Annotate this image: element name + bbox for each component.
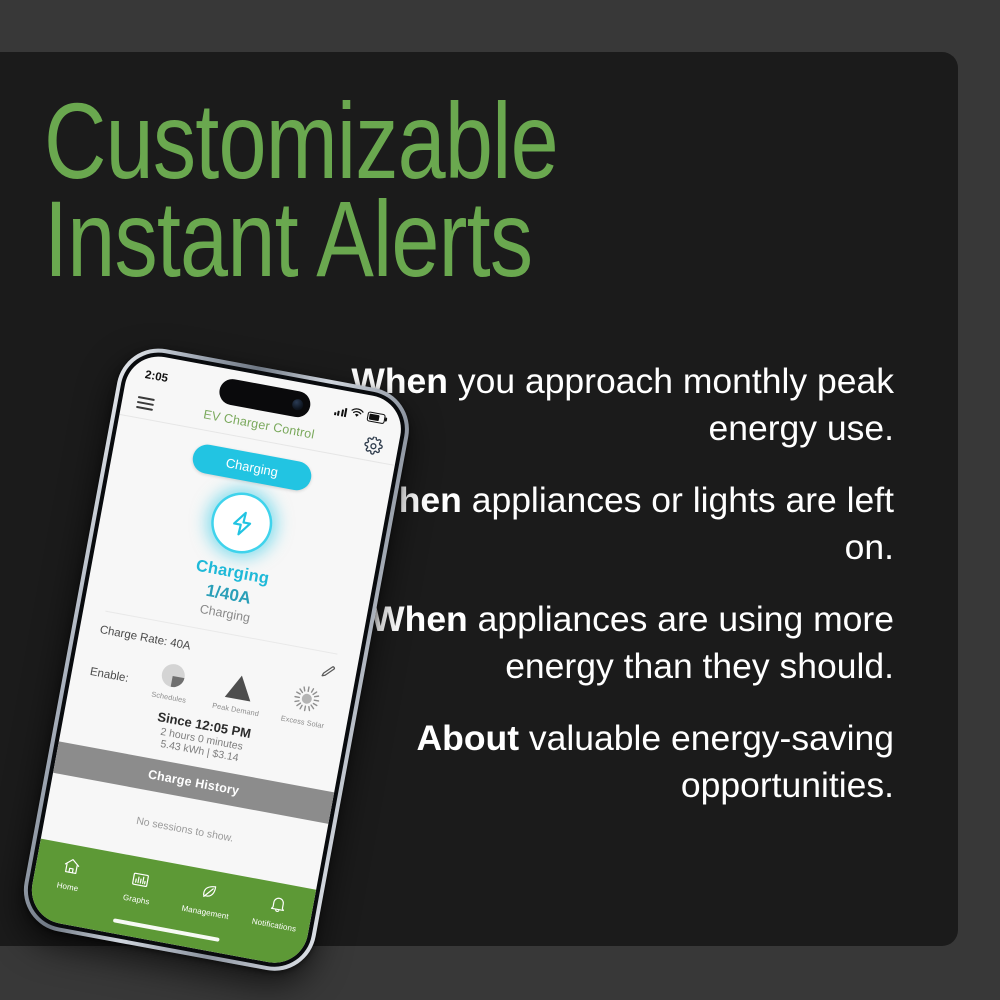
promo-slide: Customizable Instant Alerts When you app…	[0, 0, 1000, 1000]
toggle-label: Peak Demand	[212, 701, 260, 718]
status-badge[interactable]: Charging	[190, 442, 314, 493]
leaf-icon	[176, 875, 243, 908]
feature-copy-item: About valuable energy-saving opportuniti…	[349, 715, 894, 809]
nav-label: Notifications	[251, 917, 297, 934]
feature-copy-item: When appliances are using more energy th…	[349, 596, 894, 690]
front-camera-icon	[291, 398, 304, 411]
copy-body: valuable energy-saving opportunities.	[519, 718, 894, 805]
copy-body: appliances or lights are left on.	[462, 480, 894, 567]
nav-label: Management	[181, 904, 230, 922]
gear-icon[interactable]	[362, 435, 384, 457]
battery-icon	[366, 411, 386, 425]
feature-copy-item: When appliances or lights are left on.	[349, 477, 894, 571]
nav-label: Home	[56, 880, 79, 893]
toggle-label: Schedules	[151, 690, 187, 705]
nav-item-management[interactable]: Management	[172, 875, 242, 926]
charger-home-content: Charging Charging 1/40A Charging	[46, 416, 394, 861]
nav-label: Graphs	[122, 893, 150, 907]
copy-body: appliances are using more energy than th…	[468, 599, 894, 686]
nav-item-notifications[interactable]: Notifications	[241, 887, 311, 938]
sun-icon	[279, 677, 336, 716]
cell-signal-icon	[334, 406, 348, 417]
copy-body: you approach monthly peak energy use.	[448, 361, 894, 448]
pencil-icon[interactable]	[320, 663, 337, 680]
nav-item-graphs[interactable]: Graphs	[104, 862, 174, 913]
toggle-peak-demand[interactable]: Peak Demand	[209, 665, 269, 722]
status-bar-time: 2:05	[144, 369, 169, 385]
bar-chart-icon	[107, 862, 174, 895]
peak-demand-triangle-icon	[212, 665, 269, 704]
toggle-label: Excess Solar	[280, 713, 325, 730]
lightning-bolt-icon	[209, 490, 274, 555]
page-title: Customizable Instant Alerts	[44, 92, 652, 288]
home-icon	[38, 849, 105, 882]
toggle-excess-solar[interactable]: Excess Solar	[276, 677, 336, 734]
nav-item-home[interactable]: Home	[35, 849, 105, 900]
toggle-schedules[interactable]: Schedules	[142, 653, 202, 710]
bottom-navigation: Home Graphs Management	[26, 839, 316, 969]
schedule-pie-icon	[145, 653, 202, 692]
hamburger-menu-icon[interactable]	[136, 396, 155, 410]
copy-lead-word: About	[417, 718, 520, 758]
enable-label: Enable:	[87, 666, 130, 697]
headline-line-1: Customizable	[44, 92, 652, 190]
headline-line-2: Instant Alerts	[44, 190, 652, 288]
wifi-icon	[349, 407, 364, 422]
bell-icon	[244, 887, 311, 920]
status-bar-indicators	[333, 404, 386, 426]
